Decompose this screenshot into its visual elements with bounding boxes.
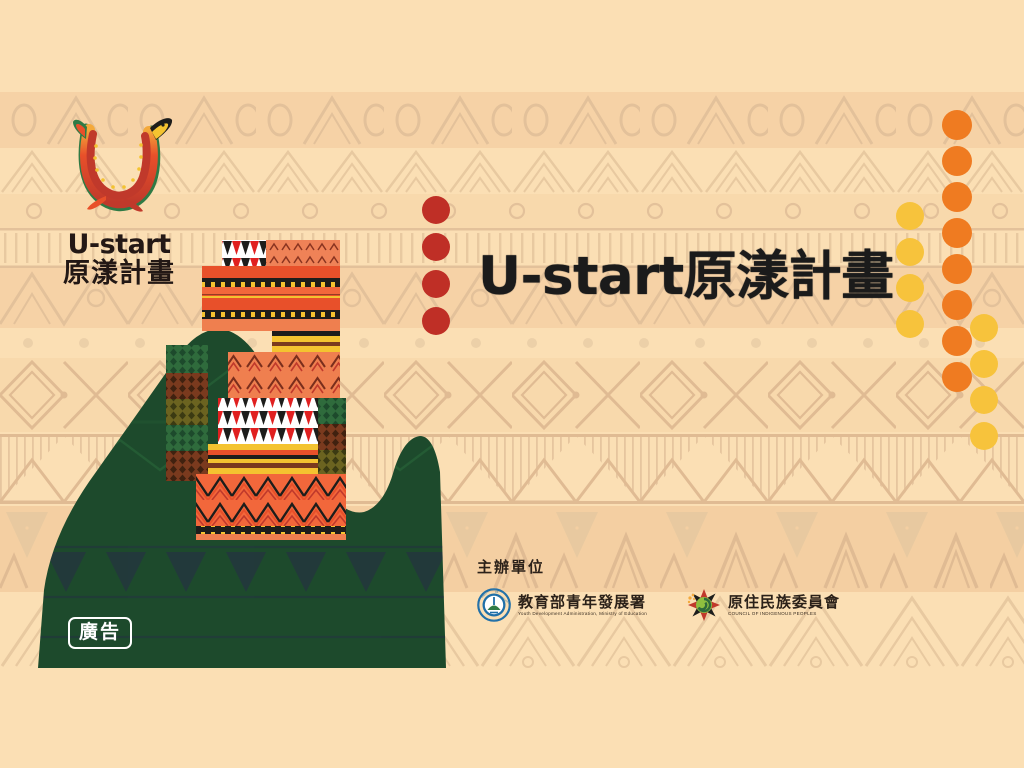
poster-canvas: U-start 原漾計畫 U-start原漾計畫 主辦單位 MINISTRY O… [0,0,1024,768]
svg-text:OF: OF [495,591,499,594]
textile-woven-column-right [318,398,346,474]
red-dot [422,307,450,335]
yellow-dot [970,422,998,450]
textile-triangle-panel [218,398,318,444]
yellow-dot [970,386,998,414]
orange-dot [942,362,972,392]
organizer-row: MINISTRY OF EDUCATION 教育部青年發展署 Youth Dev… [477,588,840,622]
organizer-moe: MINISTRY OF EDUCATION 教育部青年發展署 Youth Dev… [477,588,647,622]
orange-dot [942,146,972,176]
moe-seal-icon: MINISTRY OF EDUCATION [477,588,511,622]
textile-underpanel-stripes [208,444,318,474]
textile-woven-column [166,345,208,481]
organizer-cip-text: 原住民族委員會 COUNCIL OF INDIGENOUS PEOPLES [728,594,840,617]
textile-block-zigzag [196,474,346,540]
organizer-moe-text: 教育部青年發展署 Youth Development Administratio… [518,594,647,617]
textile-block-top [222,240,340,266]
orange-dot [942,254,972,284]
yellow-dot [896,310,924,338]
textile-block-stripes [202,266,340,331]
organizer-label: 主辦單位 [477,556,545,577]
orange-dot [942,182,972,212]
organizer-moe-chinese: 教育部青年發展署 [518,594,647,611]
yellow-dot [896,238,924,266]
orange-dot [942,290,972,320]
orange-dot [942,218,972,248]
orange-dot [942,110,972,140]
organizer-cip-english: COUNCIL OF INDIGENOUS PEOPLES [728,611,840,617]
red-dot [422,270,450,298]
yellow-dot [970,350,998,378]
orange-dot [942,326,972,356]
u-start-logo[interactable]: U-start 原漾計畫 [34,112,204,289]
red-dot [422,233,450,261]
logo-wordmark: U-start [34,231,204,259]
yellow-dot [970,314,998,342]
textile-stub-bar [272,331,340,352]
logo-chinese: 原漾計畫 [34,259,204,289]
page-title: U-start原漾計畫 [478,234,894,310]
organizer-moe-english: Youth Development Administration, Minist… [518,611,647,617]
organizer-cip-chinese: 原住民族委員會 [728,594,840,611]
yellow-dot [896,202,924,230]
cip-sun-icon [687,588,721,622]
red-dot [422,196,450,224]
advertisement-badge: 廣告 [68,617,132,649]
yellow-dot [896,274,924,302]
organizer-cip: 原住民族委員會 COUNCIL OF INDIGENOUS PEOPLES [687,588,840,622]
u-start-logo-mark [64,112,174,222]
textile-block-chevron [228,352,340,400]
